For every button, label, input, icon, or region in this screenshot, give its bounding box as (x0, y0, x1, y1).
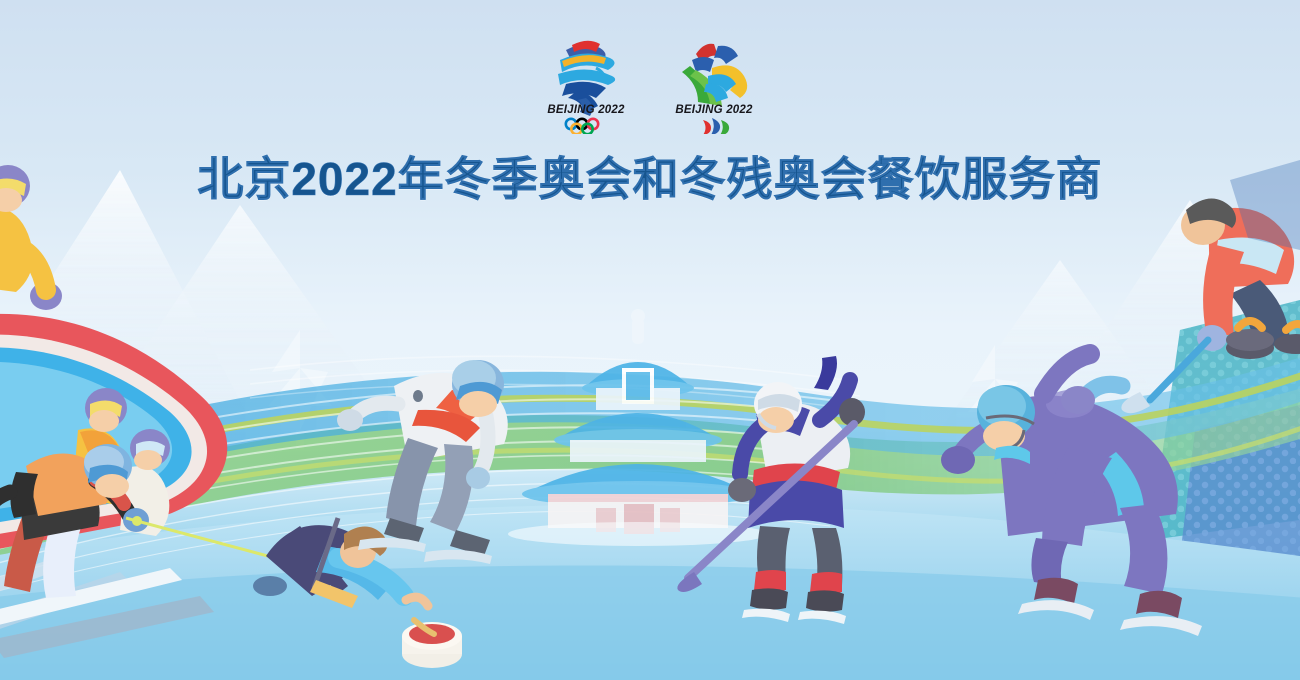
page-title: 北京2022年冬季奥会和冬残奥会餐饮服务商 (197, 143, 1102, 209)
olympic-banner: BEIJING 2022 (0, 0, 1300, 680)
olympic-emblem-svg: BEIJING 2022 (538, 30, 634, 134)
olympic-rings-icon (566, 119, 598, 134)
paralympic-wordmark: BEIJING 2022 (675, 104, 753, 116)
winter-fei-ribbon-icon (682, 44, 747, 106)
paralympic-emblem-svg: BEIJING 2022 (666, 30, 762, 134)
curling-stone-red (402, 620, 462, 668)
emblem-row: BEIJING 2022 (0, 30, 1300, 138)
agitos-icon (703, 118, 729, 134)
page-title-wrap: 北京2022年冬季奥会和冬残奥会餐饮服务商 (0, 143, 1300, 209)
beijing-2022-olympic-emblem: BEIJING 2022 (538, 30, 634, 134)
olympic-wordmark: BEIJING 2022 (547, 104, 625, 116)
beijing-2022-paralympic-emblem: BEIJING 2022 (666, 30, 762, 134)
